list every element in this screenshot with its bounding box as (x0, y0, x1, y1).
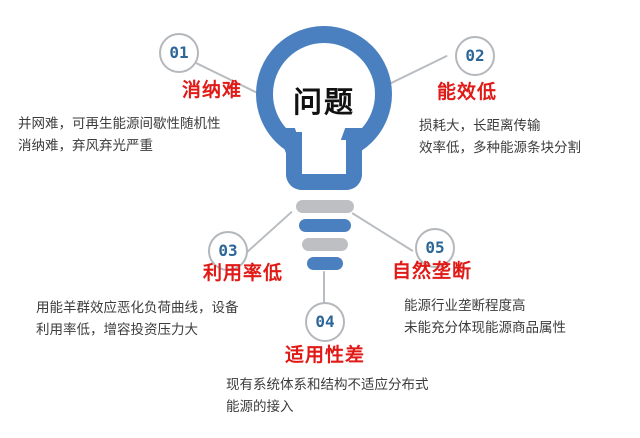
connector-line-05 (351, 212, 413, 252)
item-05-line-2: 未能充分体现能源商品属性 (404, 317, 640, 339)
bulb-base-bar-2 (299, 219, 351, 232)
bulb-base-bar-3 (302, 238, 348, 251)
item-05-heading: 自然垄断 (392, 261, 612, 283)
item-05-line-1: 能源行业垄断程度高 (404, 295, 640, 317)
badge-02[interactable]: 02 (455, 36, 495, 76)
item-04-line-1: 现有系统体系和结构不适应分布式 (226, 374, 476, 396)
center-title: 问题 (256, 88, 392, 117)
item-04-heading: 适用性差 (235, 345, 415, 367)
item-05-body: 能源行业垄断程度高 未能充分体现能源商品属性 (404, 295, 640, 340)
item-02-body: 损耗大，长距离传输 效率低，多种能源条块分割 (419, 115, 640, 160)
badge-02-number: 02 (465, 48, 484, 64)
bulb-neck (286, 132, 362, 190)
bulb-base-bar-1 (296, 200, 354, 213)
badge-01-number: 01 (169, 45, 188, 61)
infographic-canvas: 问题 01 消纳难 并网难，可再生能源间歇性随机性 消纳难，弃风弃光严重 02 … (0, 0, 640, 438)
item-03-heading: 利用率低 (30, 263, 283, 285)
item-01-heading: 消纳难 (10, 80, 242, 102)
item-03-text-block: 利用率低 (30, 263, 283, 285)
item-04-line-2: 能源的接入 (226, 396, 476, 418)
item-01-line-1: 并网难，可再生能源间歇性随机性 (18, 113, 270, 135)
badge-01[interactable]: 01 (159, 33, 199, 73)
item-03-line-1: 用能羊群效应恶化负荷曲线，设备 (36, 297, 298, 319)
bulb-base-bar-4 (307, 257, 343, 270)
item-02-line-2: 效率低，多种能源条块分割 (419, 137, 640, 159)
badge-03-number: 03 (218, 243, 237, 259)
badge-04-number: 04 (315, 314, 334, 330)
item-01-body: 并网难，可再生能源间歇性随机性 消纳难，弃风弃光严重 (18, 113, 270, 158)
item-05-text-block: 自然垄断 (392, 261, 612, 283)
item-03-line-2: 利用率低，增容投资压力大 (36, 319, 298, 341)
item-01-line-2: 消纳难，弃风弃光严重 (18, 135, 270, 157)
badge-04[interactable]: 04 (305, 302, 345, 342)
item-04-body: 现有系统体系和结构不适应分布式 能源的接入 (226, 374, 476, 419)
connector-line-03 (245, 211, 292, 254)
item-02-line-1: 损耗大，长距离传输 (419, 115, 640, 137)
item-02-heading: 能效低 (437, 82, 637, 104)
item-04-text-block: 适用性差 (235, 345, 415, 367)
item-03-body: 用能羊群效应恶化负荷曲线，设备 利用率低，增容投资压力大 (36, 297, 298, 342)
item-01-text-block: 消纳难 (10, 80, 242, 102)
badge-05-number: 05 (425, 240, 444, 256)
item-02-text-block: 能效低 (437, 82, 637, 104)
